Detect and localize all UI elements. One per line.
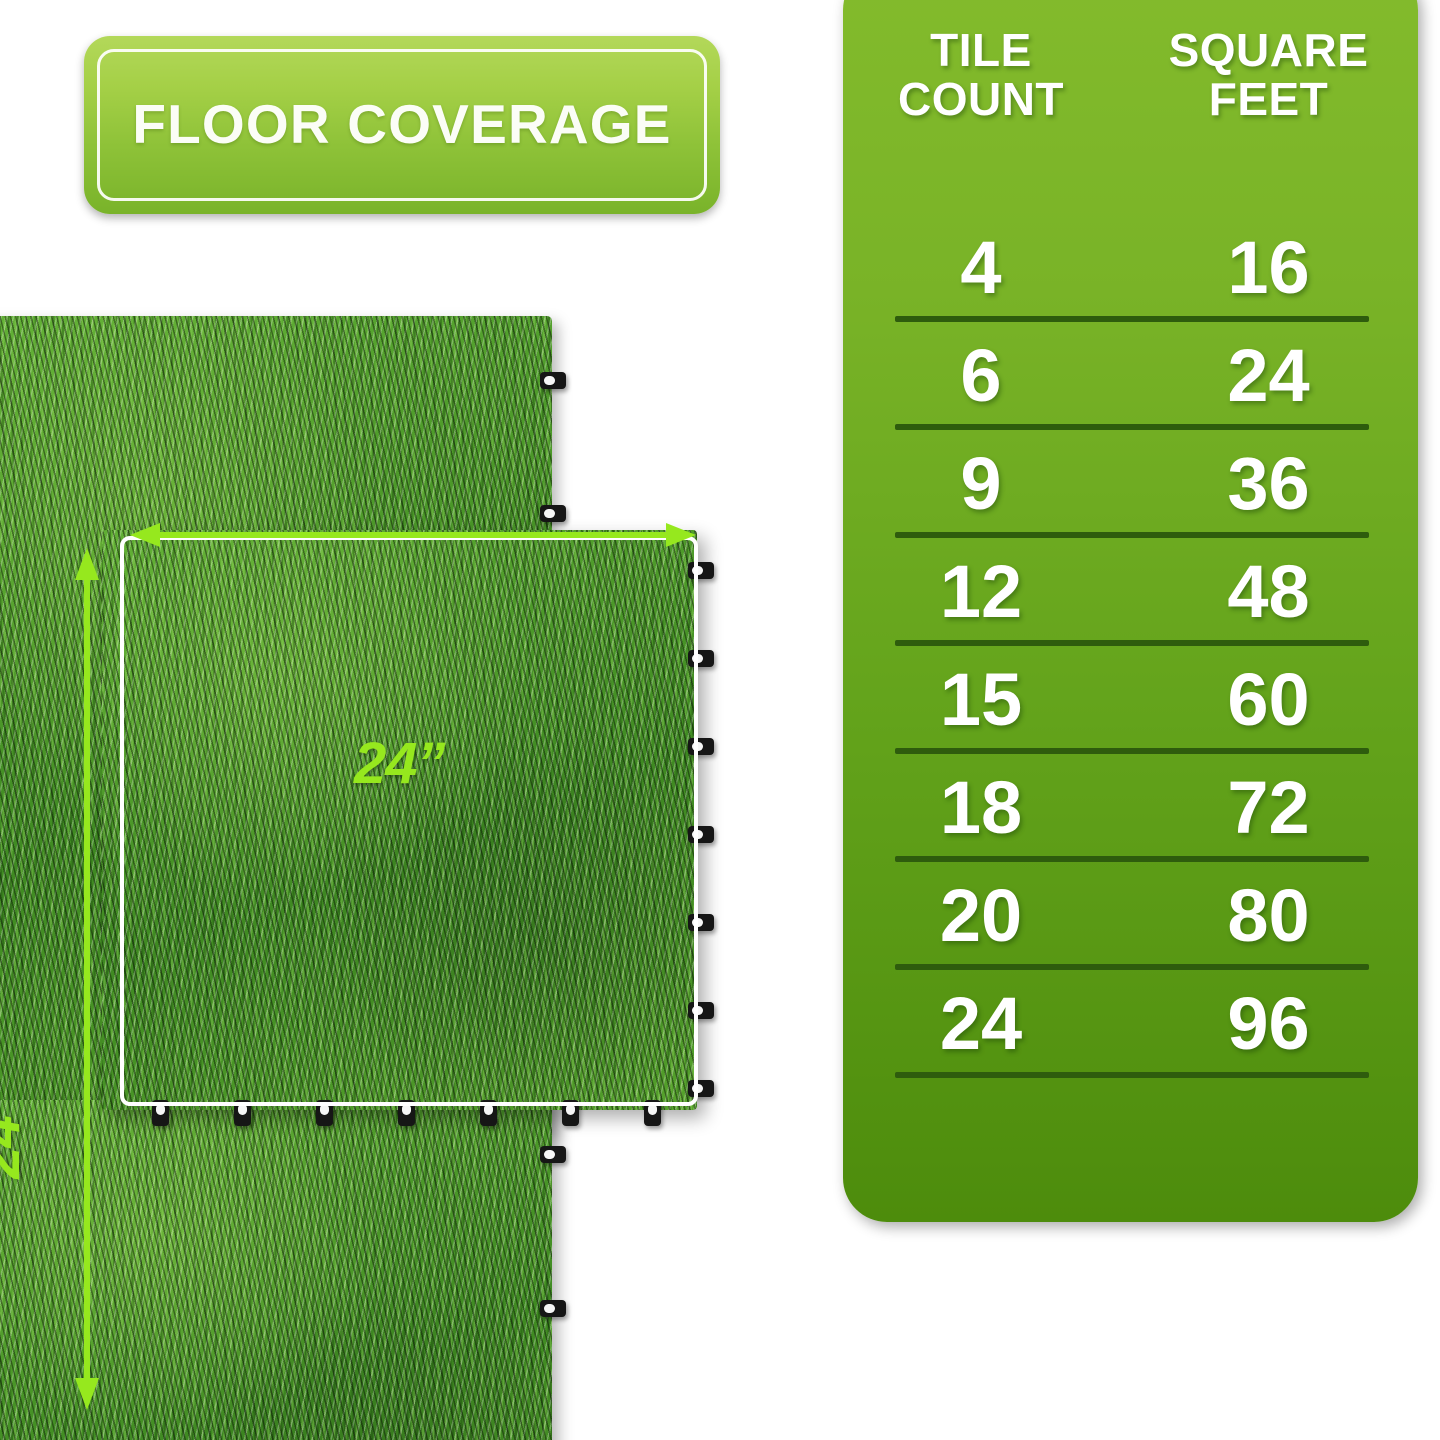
width-dimension-label: 24” bbox=[354, 730, 445, 797]
cell-tile-count: 20 bbox=[843, 879, 1119, 953]
cell-square-feet: 80 bbox=[1119, 879, 1418, 953]
cell-tile-count: 18 bbox=[843, 771, 1119, 845]
tile-dimension-outline bbox=[120, 536, 698, 1106]
interlock-tab-icon bbox=[540, 1146, 566, 1163]
height-dimension-label: 24” bbox=[0, 1088, 33, 1179]
cell-square-feet: 36 bbox=[1119, 447, 1418, 521]
column-header-square-feet-line2: FEET bbox=[1119, 75, 1418, 124]
column-header-tile-count-line1: TILE bbox=[843, 26, 1119, 75]
badge-title: FLOOR COVERAGE bbox=[84, 36, 720, 214]
width-dimension-arrow-icon bbox=[130, 522, 696, 548]
column-header-tile-count-line2: COUNT bbox=[843, 75, 1119, 124]
table-row: 20 80 bbox=[843, 862, 1418, 970]
column-header-square-feet-line1: SQUARE bbox=[1119, 26, 1418, 75]
table-row: 9 36 bbox=[843, 430, 1418, 538]
coverage-table-panel: TILE COUNT SQUARE FEET 4 16 6 24 9 36 bbox=[843, 0, 1418, 1222]
interlock-tab-icon bbox=[540, 1300, 566, 1317]
table-header-row: TILE COUNT SQUARE FEET bbox=[843, 26, 1418, 124]
table-row: 15 60 bbox=[843, 646, 1418, 754]
cell-tile-count: 12 bbox=[843, 555, 1119, 629]
cell-tile-count: 15 bbox=[843, 663, 1119, 737]
infographic-root: FLOOR COVERAGE bbox=[0, 0, 1440, 1440]
cell-square-feet: 48 bbox=[1119, 555, 1418, 629]
column-header-square-feet: SQUARE FEET bbox=[1119, 26, 1418, 124]
cell-tile-count: 6 bbox=[843, 339, 1119, 413]
cell-square-feet: 16 bbox=[1119, 231, 1418, 305]
table-row: 6 24 bbox=[843, 322, 1418, 430]
interlock-tab-icon bbox=[540, 505, 566, 522]
table-row: 24 96 bbox=[843, 970, 1418, 1078]
floor-coverage-badge: FLOOR COVERAGE bbox=[84, 36, 720, 214]
cell-tile-count: 24 bbox=[843, 987, 1119, 1061]
cell-square-feet: 24 bbox=[1119, 339, 1418, 413]
cell-square-feet: 96 bbox=[1119, 987, 1418, 1061]
cell-tile-count: 9 bbox=[843, 447, 1119, 521]
grass-tile-photo: 24” 24” bbox=[0, 300, 772, 1410]
cell-square-feet: 72 bbox=[1119, 771, 1418, 845]
row-divider bbox=[895, 1072, 1369, 1078]
cell-tile-count: 4 bbox=[843, 231, 1119, 305]
column-header-tile-count: TILE COUNT bbox=[843, 26, 1119, 124]
table-row: 4 16 bbox=[843, 214, 1418, 322]
interlock-tab-icon bbox=[540, 372, 566, 389]
height-dimension-arrow-icon bbox=[74, 548, 100, 1410]
table-body: 4 16 6 24 9 36 12 48 15 60 bbox=[843, 214, 1418, 1078]
table-row: 18 72 bbox=[843, 754, 1418, 862]
table-row: 12 48 bbox=[843, 538, 1418, 646]
cell-square-feet: 60 bbox=[1119, 663, 1418, 737]
